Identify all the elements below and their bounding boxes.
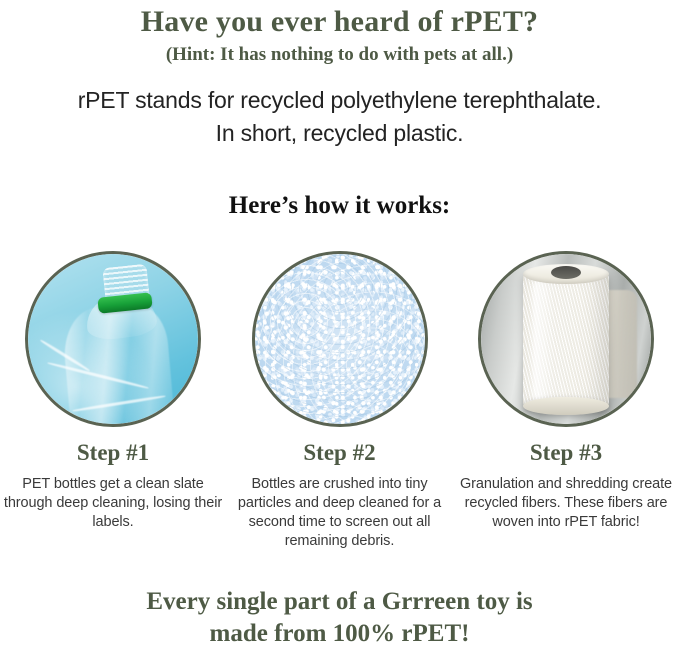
- section-heading: Here’s how it works:: [0, 190, 679, 222]
- headline-hint: (Hint: It has nothing to do with pets at…: [0, 42, 679, 68]
- step-card-3: Step #3 Granulation and shredding create…: [453, 251, 679, 532]
- step-2-caption: Bottles are crushed into tiny particles …: [227, 475, 453, 551]
- blue-pet-flakes-photo: [255, 254, 425, 424]
- step-3-caption: Granulation and shredding create recycle…: [453, 475, 679, 532]
- step-3-image-circle: [478, 251, 654, 427]
- intro-line-2: In short, recycled plastic.: [0, 117, 679, 150]
- footer-line-2: made from 100% rPET!: [0, 618, 679, 650]
- step-1-caption: PET bottles get a clean slate through de…: [0, 475, 226, 532]
- step-card-1: Step #1 PET bottles get a clean slate th…: [0, 251, 226, 532]
- footer-tagline: Every single part of a Grrreen toy is ma…: [0, 586, 679, 650]
- step-1-image-circle: [25, 251, 201, 427]
- footer-line-1: Every single part of a Grrreen toy is: [0, 586, 679, 618]
- step-1-title: Step #1: [77, 439, 149, 467]
- rpet-infographic: Have you ever heard of rPET? (Hint: It h…: [0, 0, 679, 649]
- step-2-image-circle: [252, 251, 428, 427]
- intro-paragraph: rPET stands for recycled polyethylene te…: [0, 84, 679, 150]
- page-title: Have you ever heard of rPET?: [0, 4, 679, 40]
- white-thread-spool-photo: [481, 254, 651, 424]
- flake-texture-overlay: [255, 254, 425, 424]
- step-2-title: Step #2: [303, 439, 375, 467]
- step-3-title: Step #3: [530, 439, 602, 467]
- spool-highlight: [533, 278, 555, 402]
- intro-line-1: rPET stands for recycled polyethylene te…: [78, 87, 602, 113]
- crushed-plastic-bottle-photo: [28, 254, 198, 424]
- step-card-2: Step #2 Bottles are crushed into tiny pa…: [227, 251, 453, 551]
- spool-bottom-rim: [523, 397, 609, 415]
- spool-core-hole: [551, 266, 581, 279]
- steps-row: Step #1 PET bottles get a clean slate th…: [0, 251, 679, 551]
